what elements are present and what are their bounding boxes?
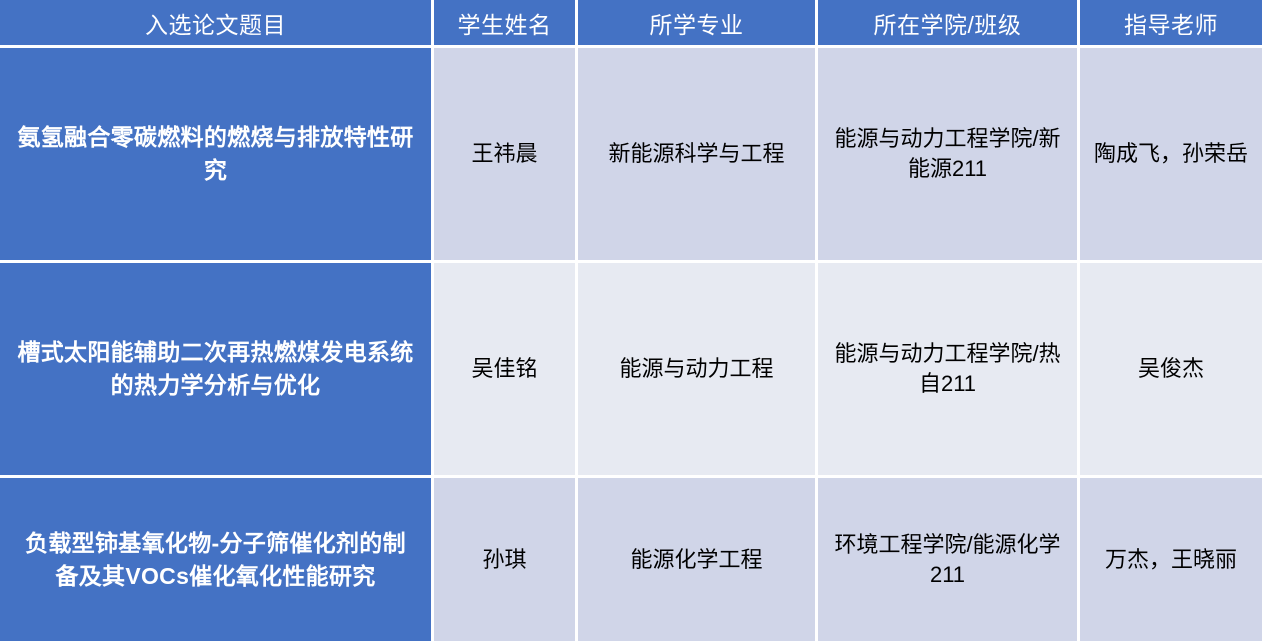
table-row: 槽式太阳能辅助二次再热燃煤发电系统的热力学分析与优化 吴佳铭 能源与动力工程 能… xyxy=(0,263,1262,478)
cell-college-class: 能源与动力工程学院/新能源211 xyxy=(818,48,1080,263)
cell-college-class: 环境工程学院/能源化学211 xyxy=(818,478,1080,641)
cell-student-name: 王祎晨 xyxy=(434,48,578,263)
table-row: 负载型铈基氧化物-分子筛催化剂的制备及其VOCs催化氧化性能研究 孙琪 能源化学… xyxy=(0,478,1262,641)
award-table-container: 入选论文题目 学生姓名 所学专业 所在学院/班级 指导老师 氨氢融合零碳燃料的燃… xyxy=(0,0,1262,596)
column-header-teacher: 指导老师 xyxy=(1080,0,1262,48)
cell-paper-title: 负载型铈基氧化物-分子筛催化剂的制备及其VOCs催化氧化性能研究 xyxy=(0,478,434,641)
cell-college-class: 能源与动力工程学院/热自211 xyxy=(818,263,1080,478)
cell-major: 能源与动力工程 xyxy=(578,263,818,478)
table-header: 入选论文题目 学生姓名 所学专业 所在学院/班级 指导老师 xyxy=(0,0,1262,48)
cell-paper-title: 氨氢融合零碳燃料的燃烧与排放特性研究 xyxy=(0,48,434,263)
cell-student-name: 孙琪 xyxy=(434,478,578,641)
column-header-major: 所学专业 xyxy=(578,0,818,48)
selected-papers-table: 入选论文题目 学生姓名 所学专业 所在学院/班级 指导老师 氨氢融合零碳燃料的燃… xyxy=(0,0,1262,641)
column-header-title: 入选论文题目 xyxy=(0,0,434,48)
cell-advisor: 吴俊杰 xyxy=(1080,263,1262,478)
column-header-college: 所在学院/班级 xyxy=(818,0,1080,48)
column-header-student: 学生姓名 xyxy=(434,0,578,48)
cell-advisor: 陶成飞，孙荣岳 xyxy=(1080,48,1262,263)
cell-major: 新能源科学与工程 xyxy=(578,48,818,263)
table-row: 氨氢融合零碳燃料的燃烧与排放特性研究 王祎晨 新能源科学与工程 能源与动力工程学… xyxy=(0,48,1262,263)
header-row: 入选论文题目 学生姓名 所学专业 所在学院/班级 指导老师 xyxy=(0,0,1262,48)
cell-advisor: 万杰，王晓丽 xyxy=(1080,478,1262,641)
cell-major: 能源化学工程 xyxy=(578,478,818,641)
table-body: 氨氢融合零碳燃料的燃烧与排放特性研究 王祎晨 新能源科学与工程 能源与动力工程学… xyxy=(0,48,1262,641)
cell-paper-title: 槽式太阳能辅助二次再热燃煤发电系统的热力学分析与优化 xyxy=(0,263,434,478)
cell-student-name: 吴佳铭 xyxy=(434,263,578,478)
